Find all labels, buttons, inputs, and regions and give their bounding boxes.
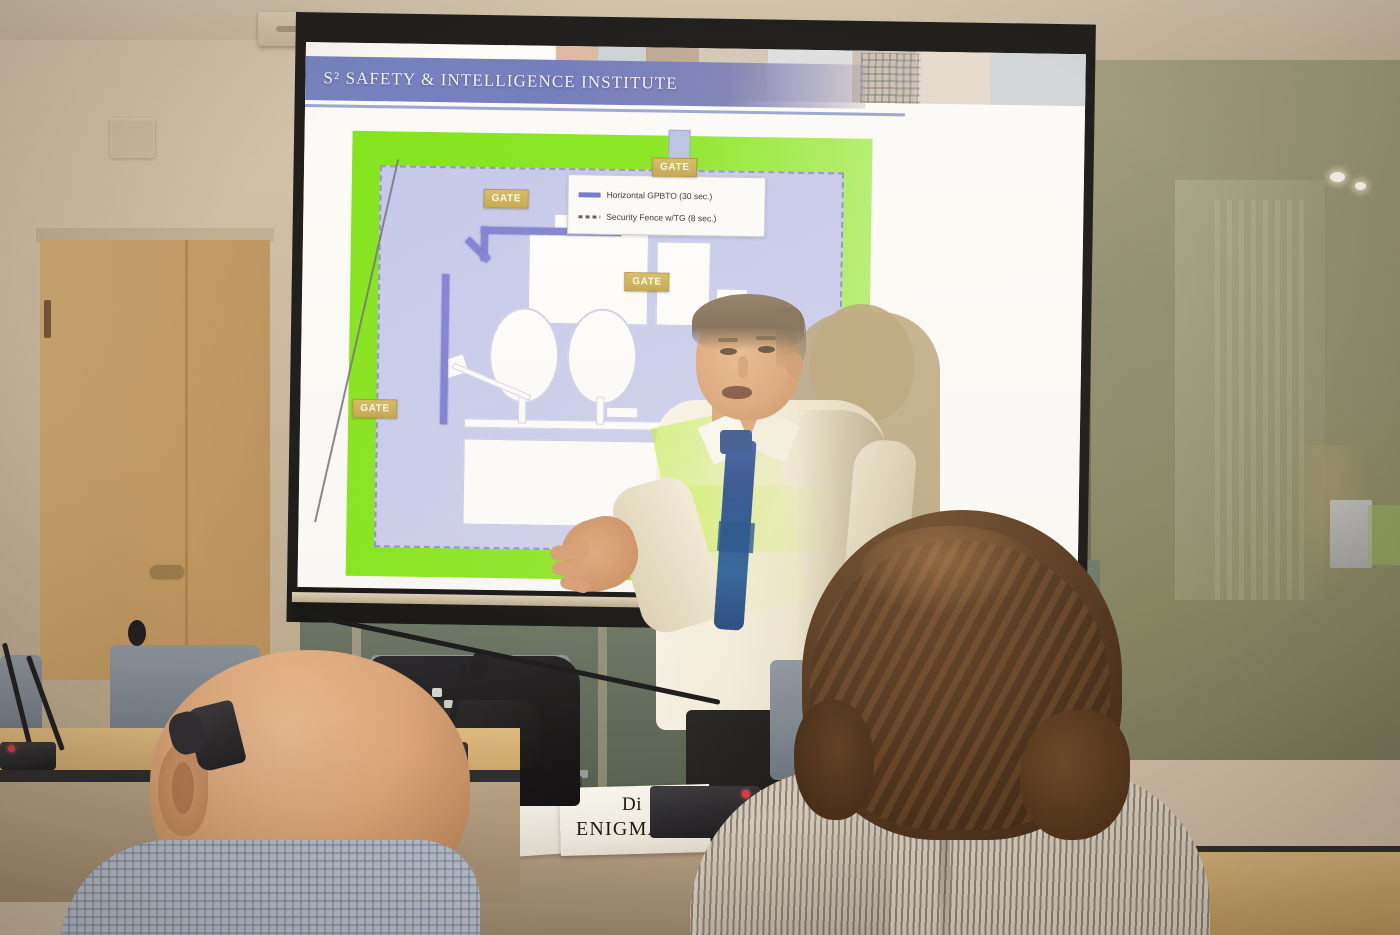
microphone-led-indicator: [8, 745, 15, 752]
presenter-eyebrow: [718, 338, 738, 342]
attendee-left-shirt: [60, 840, 480, 935]
gate-label: GATE: [483, 189, 529, 209]
attendee-right-hair-highlight: [860, 526, 1040, 616]
wall-outlet: [110, 118, 155, 158]
wall-trim: [0, 60, 300, 74]
presenter-eye: [720, 348, 737, 355]
presenter-eyebrow: [756, 336, 776, 340]
presenter-nose: [738, 356, 748, 378]
attendee-right-hair-curl: [1020, 710, 1130, 840]
nameplate-line-1: Di: [622, 794, 642, 816]
reflected-object: [1368, 505, 1400, 565]
presenter-eye: [758, 346, 775, 353]
presenter-finger: [552, 561, 589, 577]
attendee-left: [60, 650, 480, 935]
attendee-right-hair-curl: [794, 700, 874, 820]
ceiling-light-icon: [1355, 182, 1366, 190]
legend-swatch-solid: [579, 192, 601, 197]
security-fence-line: [314, 159, 399, 522]
gate-label: GATE: [624, 272, 670, 292]
presenter-mouth: [722, 386, 752, 399]
reflected-cup: [1330, 500, 1372, 568]
microphone-head: [128, 620, 146, 646]
photo-grid-texture: [860, 53, 921, 104]
gate-label: GATE: [652, 157, 698, 177]
diagram-legend: Horizontal GPBTO (30 sec.) Security Fenc…: [567, 174, 766, 237]
door-seam: [185, 240, 188, 680]
legend-swatch-dashed: [578, 215, 600, 218]
screenshot-root: S2 S² SAFETY & INTELLIGENCE INSTITUTE: [0, 0, 1400, 935]
gate-label: GATE: [352, 399, 398, 419]
attendee-right: [690, 510, 1210, 935]
attendee-left-ear-inner: [172, 762, 194, 814]
presenter-tie-knot: [720, 430, 752, 454]
legend-label-gpbto: Horizontal GPBTO (30 sec.): [607, 190, 713, 202]
door-hinge: [44, 300, 51, 338]
door-handle[interactable]: [150, 565, 184, 578]
ceiling-light-icon: [1330, 172, 1345, 182]
wooden-door[interactable]: [40, 240, 270, 680]
legend-label-fence: Security Fence w/TG (8 sec.): [606, 212, 716, 224]
presenter-ear: [786, 352, 803, 378]
